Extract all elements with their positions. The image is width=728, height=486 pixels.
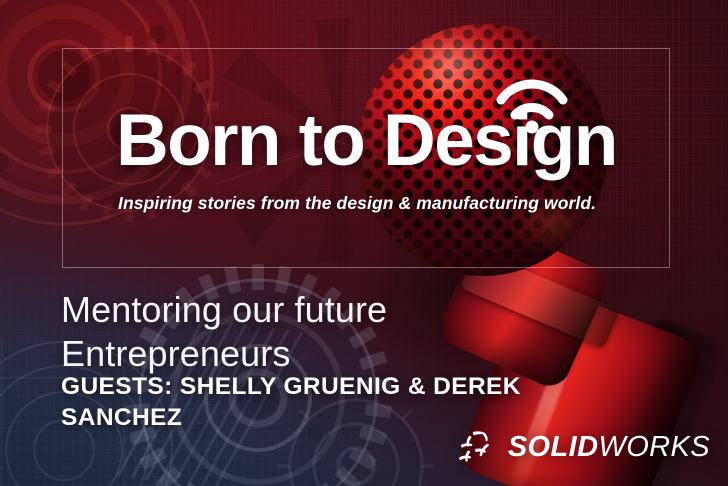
wifi-broadcast-icon: [495, 78, 569, 134]
solidworks-wordmark: SOLID WORKS: [508, 431, 710, 464]
podcast-cover-graphic: Born to Design Inspiring stories from th…: [0, 0, 728, 486]
episode-title: Mentoring our future Entrepreneurs: [61, 288, 481, 377]
solidworks-logo: SOLID WORKS: [457, 430, 710, 464]
podcast-tagline: Inspiring stories from the design & manu…: [118, 193, 596, 214]
3ds-compass-icon: [457, 430, 497, 464]
solidworks-works-text: WORKS: [598, 431, 710, 464]
episode-guests: GUESTS: SHELLY GRUENIG & DEREK SANCHEZ: [61, 371, 531, 434]
solidworks-solid-text: SOLID: [508, 431, 599, 464]
